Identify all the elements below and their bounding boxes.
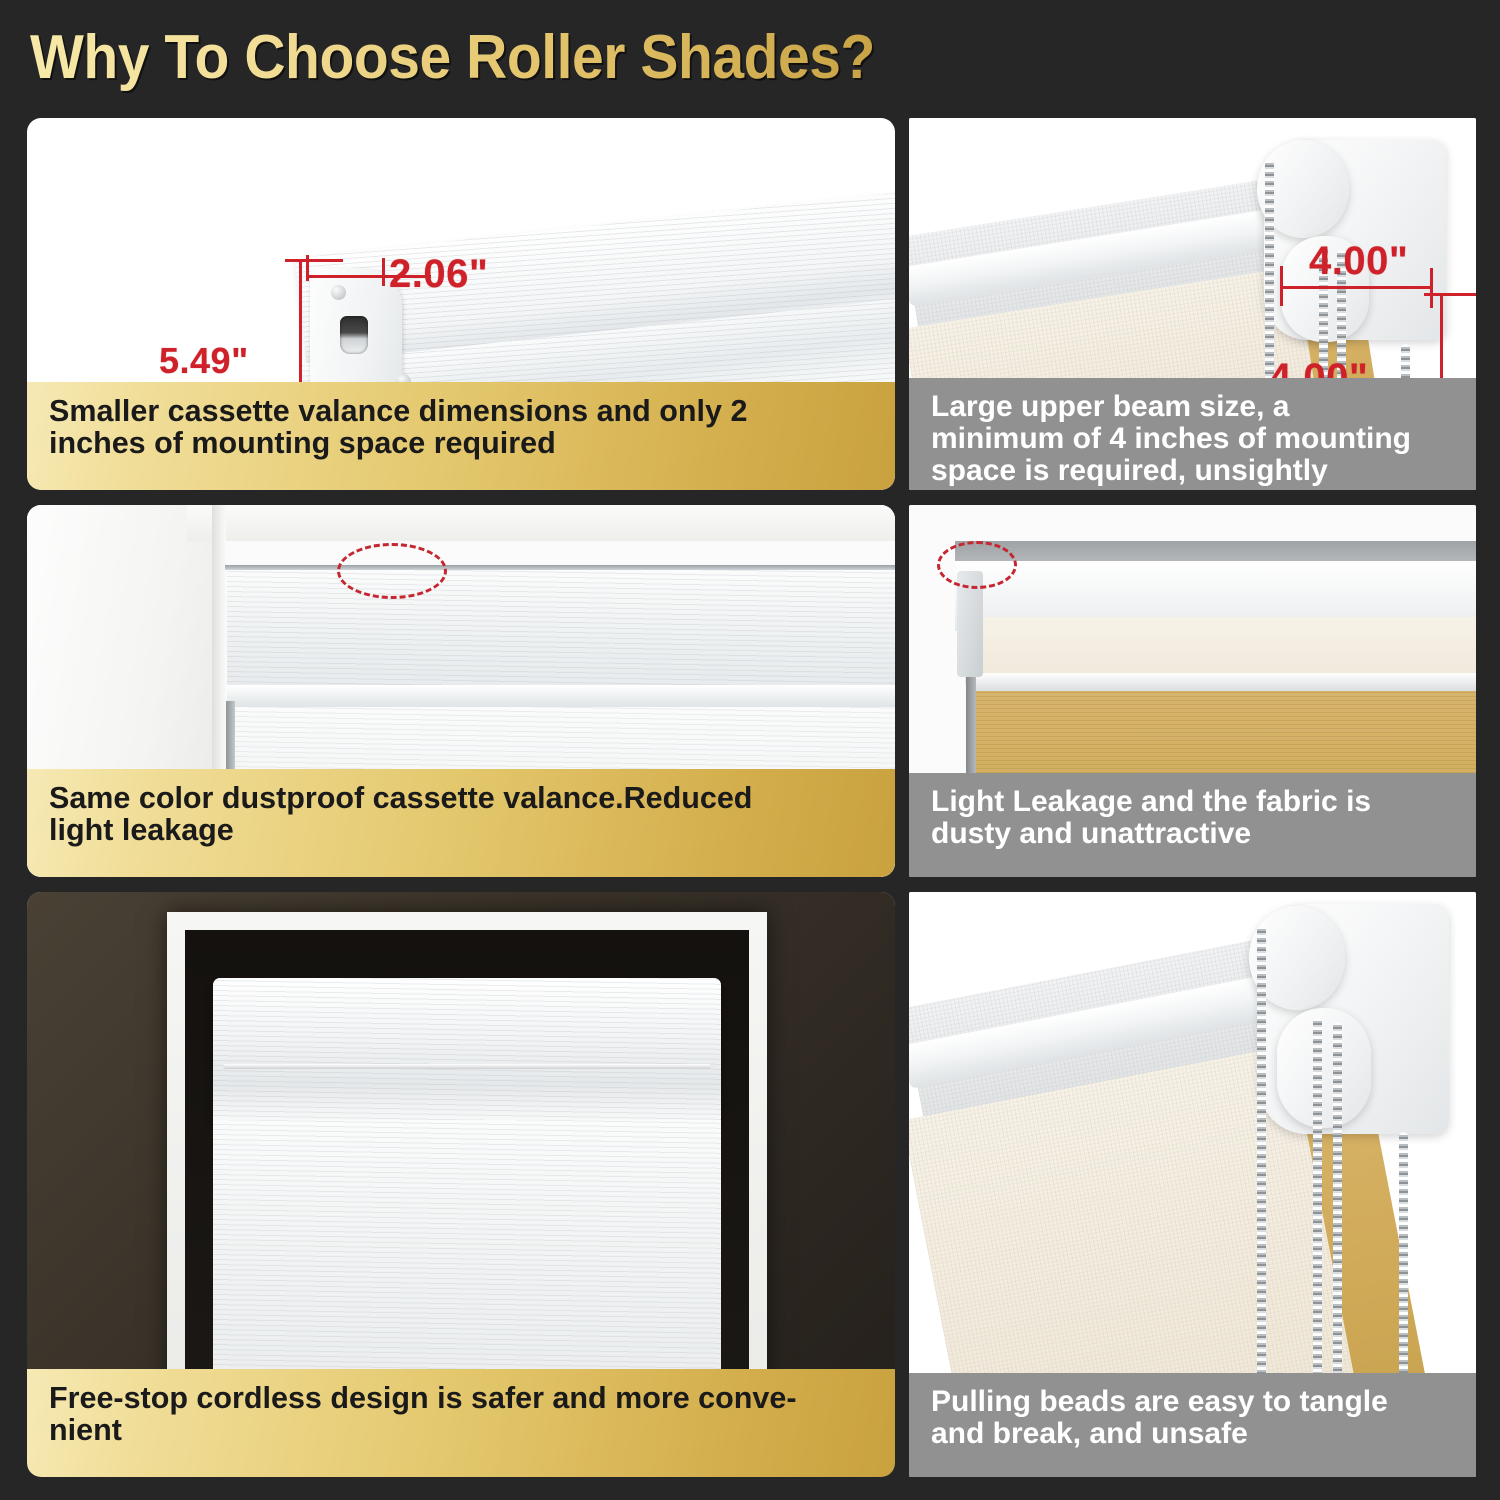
beam-width-tick-right <box>1430 268 1433 308</box>
window-frame-top <box>187 505 895 541</box>
valance-slot <box>340 316 368 354</box>
caption-line: Pulling beads are easy to tangle <box>931 1386 1456 1418</box>
caption-line: Light Leakage and the fabric is <box>931 786 1456 818</box>
valance-rail <box>969 673 1476 691</box>
caption-line: dusty and unattractive <box>931 818 1456 850</box>
beam-width-dimension-line <box>1281 286 1433 289</box>
height-dimension-tick-top <box>285 259 343 262</box>
width-dimension-label: 2.06" <box>389 252 488 297</box>
screw-icon <box>331 285 346 300</box>
caption-line: Large upper beam size, a <box>931 391 1456 423</box>
caption-bar-con: Large upper beam size, a minimum of 4 in… <box>909 378 1476 490</box>
cassette-valance-head <box>213 978 721 1126</box>
panel-cordless-design: Free-stop cordless design is safer and m… <box>27 892 895 1477</box>
height-dimension-label: 5.49" <box>159 340 249 382</box>
beam-width-tick-left <box>1280 266 1283 306</box>
width-dimension-tick-right <box>382 258 385 286</box>
caption-line: Smaller cassette valance dimensions and … <box>49 395 875 427</box>
caption-line: nient <box>49 1414 875 1446</box>
panel-upper-beam-dimensions: 4.00" 4.00" Large upper beam size, a min… <box>909 118 1476 490</box>
panel-light-leakage: Large gap Light Leakage and the fabric i… <box>909 505 1476 877</box>
caption-line: and break, and unsafe <box>931 1418 1456 1450</box>
page-title: Why To Choose Roller Shades? <box>30 22 875 93</box>
clutch-bracket-lower-disc <box>1277 1008 1371 1128</box>
caption-line: space is required, unsightly <box>931 455 1456 487</box>
valance-bottom-lip <box>227 685 895 707</box>
highlight-dashed-ellipse <box>337 543 447 599</box>
caption-line: minimum of 4 inches of mounting <box>931 423 1456 455</box>
panel-dustproof-valance: smaller gap Same color dustproof cassett… <box>27 505 895 877</box>
panel-cassette-dimensions: 2.06" 5.49" Smaller cassette valance dim… <box>27 118 895 490</box>
caption-bar-pro: Same color dustproof cassette valance.Re… <box>27 769 895 877</box>
highlight-dashed-ellipse <box>937 541 1017 589</box>
caption-bar-con: Light Leakage and the fabric is dusty an… <box>909 773 1476 877</box>
caption-bar-pro: Smaller cassette valance dimensions and … <box>27 382 895 490</box>
beam-width-dimension-label: 4.00" <box>1309 239 1408 284</box>
caption-line: Same color dustproof cassette valance.Re… <box>49 782 875 814</box>
valance-front <box>227 570 895 692</box>
caption-line: Free-stop cordless design is safer and m… <box>49 1382 875 1414</box>
caption-line: light leakage <box>49 814 875 846</box>
beam-height-tick-top <box>1424 293 1476 296</box>
caption-bar-con: Pulling beads are easy to tangle and bre… <box>909 1373 1476 1477</box>
caption-bar-pro: Free-stop cordless design is safer and m… <box>27 1369 895 1477</box>
panel-pulling-beads: Pulling beads are easy to tangle and bre… <box>909 892 1476 1477</box>
caption-line: inches of mounting space required <box>49 427 875 459</box>
infographic-root: Why To Choose Roller Shades? 2.06" 5.49"… <box>0 0 1500 1500</box>
